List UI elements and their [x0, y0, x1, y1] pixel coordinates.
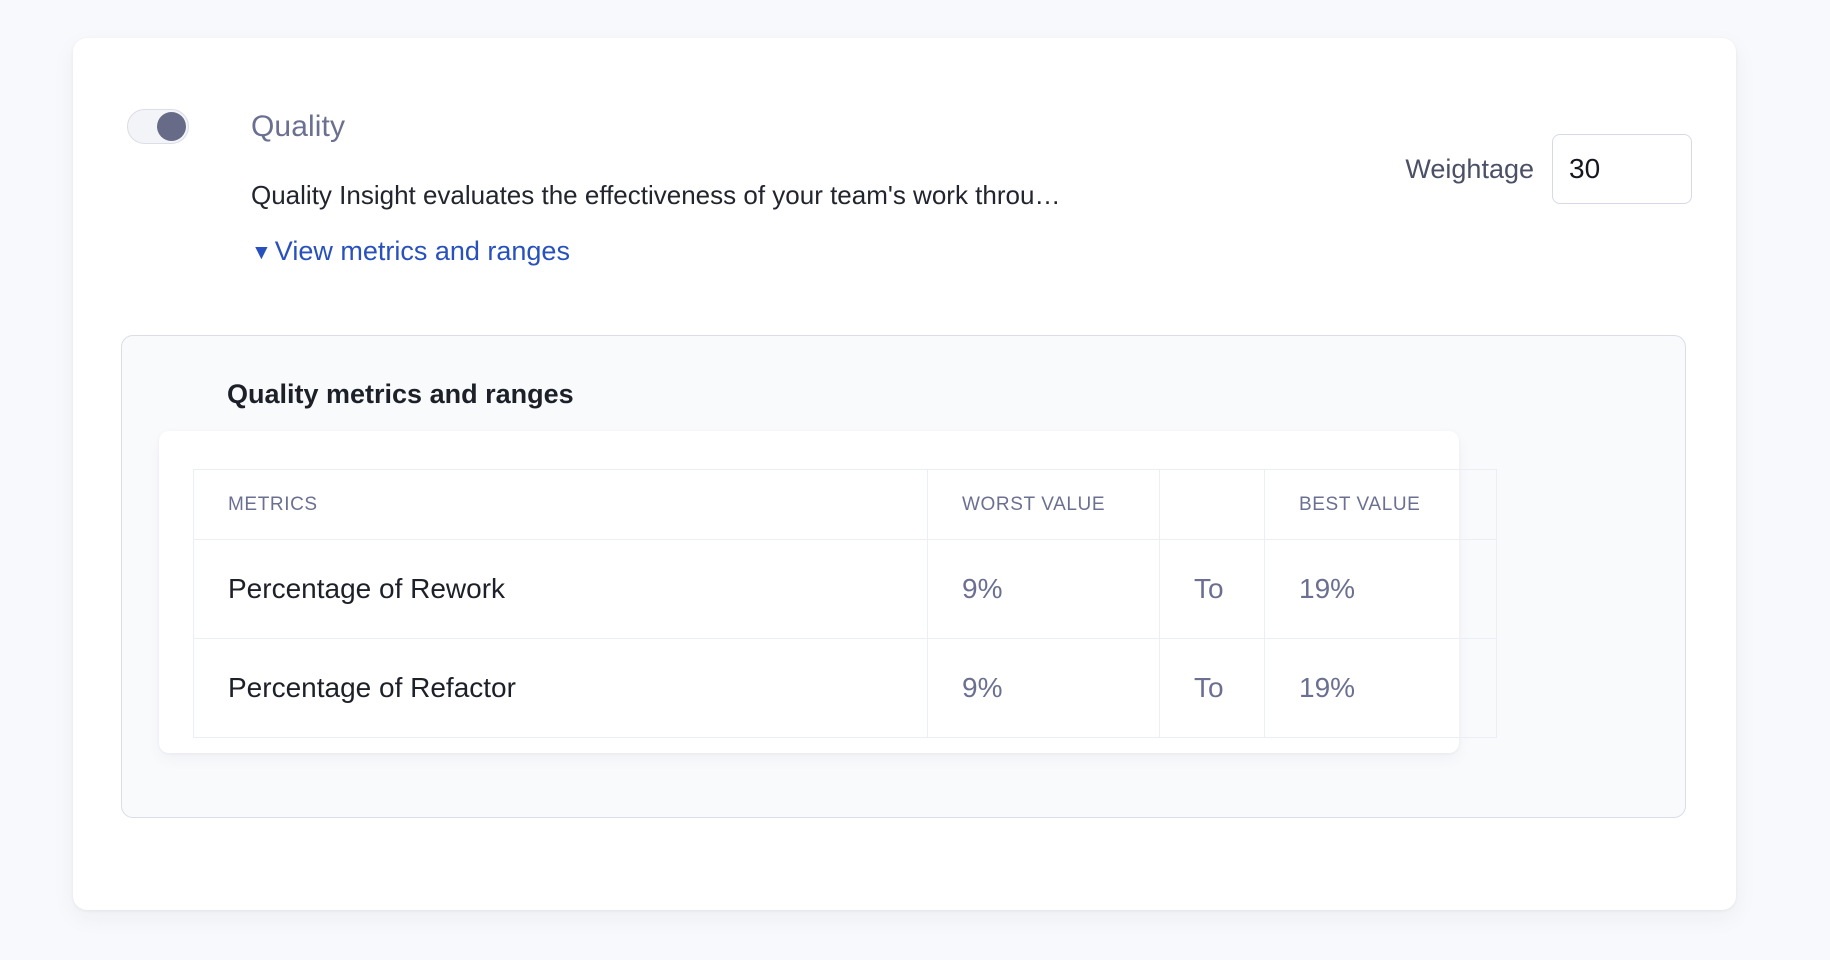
cell-best-value: 19%: [1265, 639, 1497, 738]
table-row: Percentage of Rework 9% To 19%: [194, 540, 1497, 639]
cell-worst-value: 9%: [928, 540, 1160, 639]
metrics-table-card: METRICS WORST VALUE BEST VALUE Percentag…: [159, 431, 1459, 753]
weightage-label: Weightage: [1405, 154, 1534, 185]
column-header-worst-value: WORST VALUE: [928, 470, 1160, 540]
ranges-panel-heading: Quality metrics and ranges: [227, 379, 574, 410]
table-header-row: METRICS WORST VALUE BEST VALUE: [194, 470, 1497, 540]
quality-toggle[interactable]: [127, 109, 189, 144]
cell-worst-value: 9%: [928, 639, 1160, 738]
insight-title: Quality: [251, 110, 345, 144]
chevron-down-icon: ▼: [251, 242, 272, 263]
metrics-table: METRICS WORST VALUE BEST VALUE Percentag…: [193, 469, 1497, 738]
table-row: Percentage of Refactor 9% To 19%: [194, 639, 1497, 738]
column-header-separator: [1160, 470, 1265, 540]
cell-best-value: 19%: [1265, 540, 1497, 639]
column-header-best-value: BEST VALUE: [1265, 470, 1497, 540]
column-header-metrics: METRICS: [194, 470, 928, 540]
view-metrics-and-ranges-link[interactable]: ▼ View metrics and ranges: [251, 236, 570, 267]
cell-metric-name: Percentage of Rework: [194, 540, 928, 639]
weightage-group: Weightage: [1405, 134, 1692, 204]
weightage-input[interactable]: [1552, 134, 1692, 204]
metrics-ranges-panel: Quality metrics and ranges METRICS WORST…: [121, 335, 1686, 818]
cell-metric-name: Percentage of Refactor: [194, 639, 928, 738]
insight-card: Quality Quality Insight evaluates the ef…: [73, 38, 1736, 910]
view-metrics-link-label: View metrics and ranges: [275, 236, 570, 267]
insight-description: Quality Insight evaluates the effectiven…: [251, 178, 1151, 212]
toggle-knob-icon: [157, 112, 186, 141]
cell-range-separator: To: [1160, 540, 1265, 639]
cell-range-separator: To: [1160, 639, 1265, 738]
